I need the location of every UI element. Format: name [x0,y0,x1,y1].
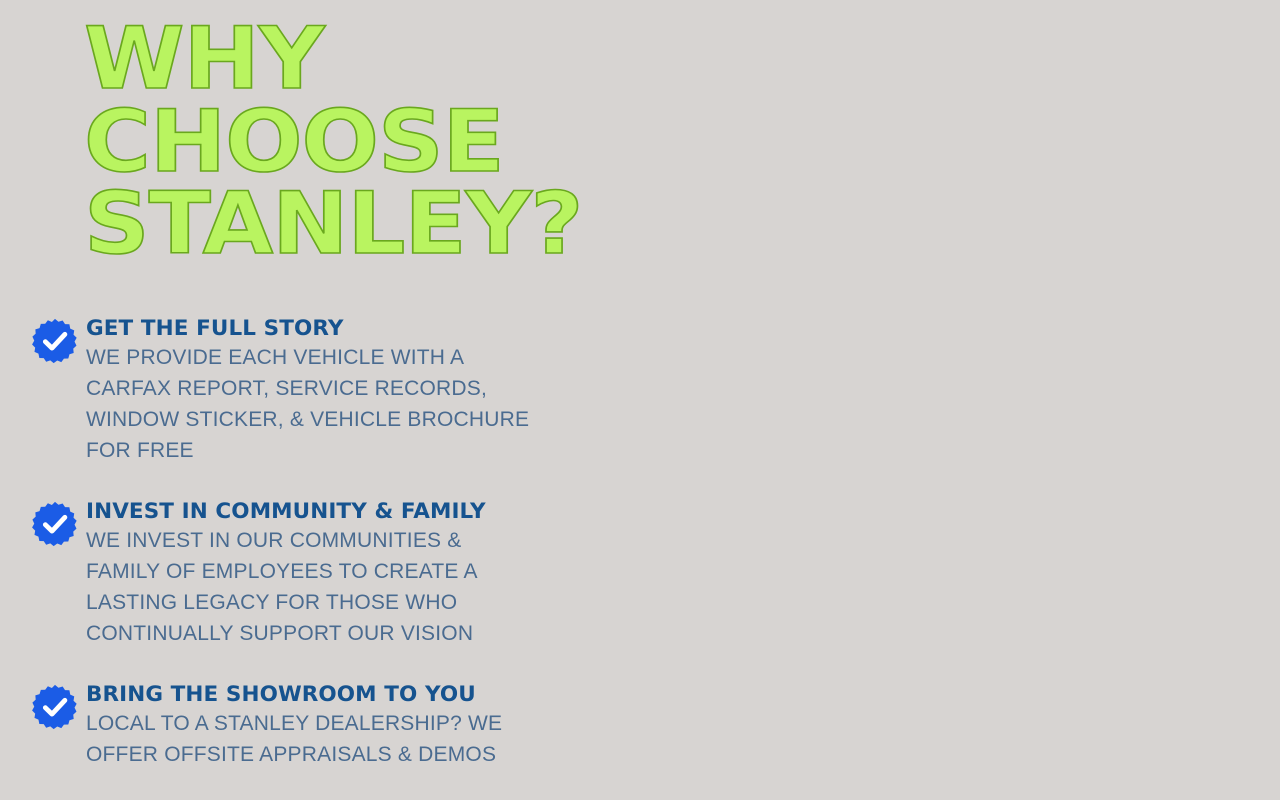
feature-body-line: WE INVEST IN OUR COMMUNITIES & [86,526,486,557]
feature-text: BRING THE SHOWROOM TO YOU LOCAL TO A STA… [86,682,502,771]
feature-heading: INVEST IN COMMUNITY & FAMILY [86,499,486,525]
check-badge-icon [32,501,78,547]
why-choose-stanley-poster: WHY CHOOSE STANLEY? GET THE FULL STORY W… [0,0,1280,800]
feature-body-line: FAMILY OF EMPLOYEES TO CREATE A [86,557,486,588]
feature-item-invest-in-community-and-family: INVEST IN COMMUNITY & FAMILY WE INVEST I… [32,499,486,650]
feature-body-line: LASTING LEGACY FOR THOSE WHO [86,588,486,619]
feature-heading: GET THE FULL STORY [86,316,529,342]
feature-item-get-the-full-story: GET THE FULL STORY WE PROVIDE EACH VEHIC… [32,316,529,467]
feature-body: WE INVEST IN OUR COMMUNITIES & FAMILY OF… [86,526,486,649]
feature-body-line: OFFER OFFSITE APPRAISALS & DEMOS [86,740,502,771]
feature-body-line: WINDOW STICKER, & VEHICLE BROCHURE [86,405,529,436]
feature-body-line: CONTINUALLY SUPPORT OUR VISION [86,619,486,650]
feature-body-line: FOR FREE [86,436,529,467]
feature-body-line: WE PROVIDE EACH VEHICLE WITH A [86,343,529,374]
feature-body: LOCAL TO A STANLEY DEALERSHIP? WE OFFER … [86,709,502,771]
feature-body: WE PROVIDE EACH VEHICLE WITH A CARFAX RE… [86,343,529,466]
feature-text: INVEST IN COMMUNITY & FAMILY WE INVEST I… [86,499,486,650]
headline-line-3: STANLEY? [84,183,635,266]
check-badge-icon [32,318,78,364]
check-badge-icon [32,684,78,730]
feature-body-line: CARFAX REPORT, SERVICE RECORDS, [86,374,529,405]
page-title: WHY CHOOSE STANLEY? [84,18,635,266]
feature-body-line: LOCAL TO A STANLEY DEALERSHIP? WE [86,709,502,740]
headline-line-1: WHY [84,18,635,101]
feature-item-bring-the-showroom-to-you: BRING THE SHOWROOM TO YOU LOCAL TO A STA… [32,682,502,771]
feature-text: GET THE FULL STORY WE PROVIDE EACH VEHIC… [86,316,529,467]
headline-line-2: CHOOSE [84,101,635,184]
feature-heading: BRING THE SHOWROOM TO YOU [86,682,502,708]
